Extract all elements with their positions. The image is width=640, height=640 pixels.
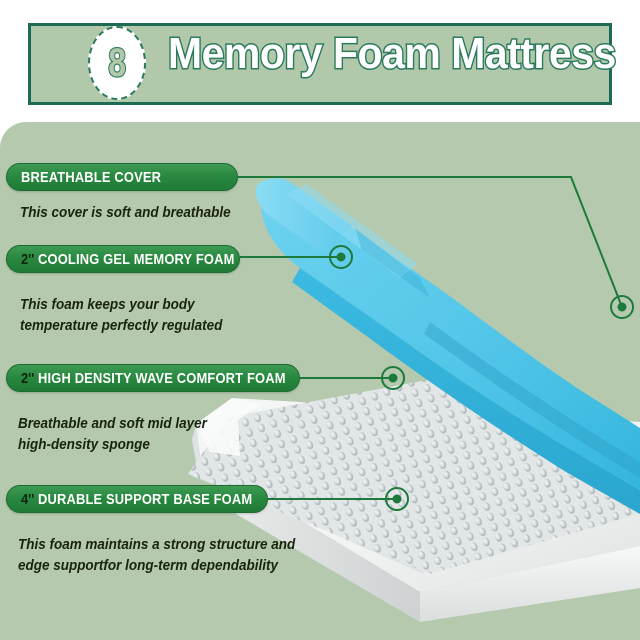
callout-label-breathable-cover[interactable]: BREATHABLE COVER: [6, 163, 238, 191]
step-number-label: 8: [108, 43, 126, 83]
marker-breathable-cover: [611, 296, 633, 318]
callout-description-durable-support-base-foam: This foam maintains a strong structure a…: [18, 535, 316, 576]
callout-label-durable-support-base-foam[interactable]: 4'' DURABLE SUPPORT BASE FOAM: [6, 485, 268, 513]
callout-measure-text: 2'': [21, 251, 34, 268]
callout-measure-text: 2'': [21, 370, 34, 387]
callout-measure-text: 4'': [21, 491, 34, 508]
callout-description-breathable-cover: This cover is soft and breathable: [20, 203, 299, 224]
callout-label-text: COOLING GEL MEMORY FOAM: [38, 251, 235, 268]
callout-description-high-density-wave-comfort-foam: Breathable and soft mid layer high-densi…: [18, 414, 297, 455]
callout-label-cooling-gel-memory-foam[interactable]: 2'' COOLING GEL MEMORY FOAM: [6, 245, 240, 273]
step-number-badge: 8: [88, 26, 146, 100]
callout-label-text: DURABLE SUPPORT BASE FOAM: [38, 491, 252, 508]
callout-label-text: HIGH DENSITY WAVE COMFORT FOAM: [38, 370, 286, 387]
callout-label-high-density-wave-comfort-foam[interactable]: 2'' HIGH DENSITY WAVE COMFORT FOAM: [6, 364, 300, 392]
callout-label-text: BREATHABLE COVER: [21, 169, 161, 186]
page-title: Memory Foam Mattress: [168, 30, 616, 78]
callout-description-cooling-gel-memory-foam: This foam keeps your body temperature pe…: [20, 295, 280, 336]
